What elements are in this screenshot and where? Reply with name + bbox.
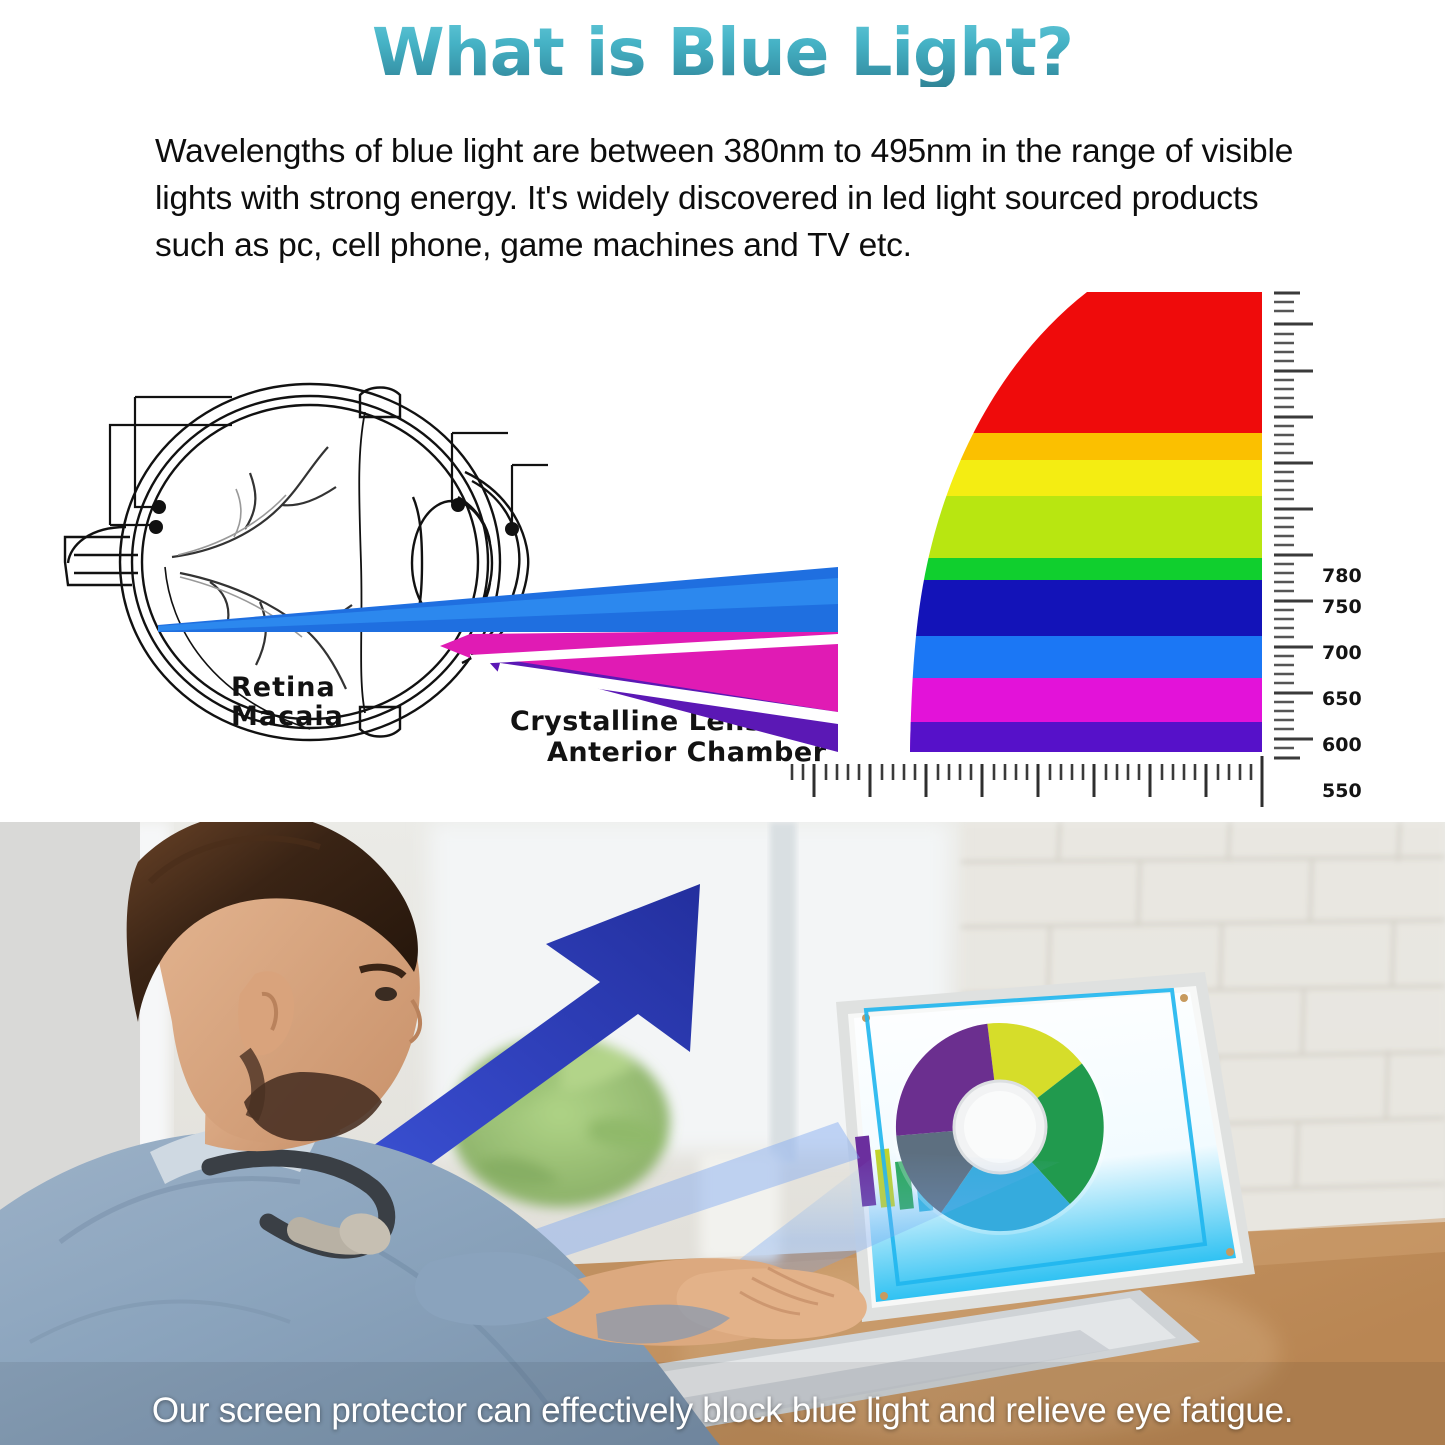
band-green: [880, 558, 1270, 580]
band-orange: [880, 433, 1270, 460]
horizontal-axis-minor-ticks: [792, 764, 1251, 780]
y-tick-700: 700: [1322, 642, 1362, 664]
vertical-axis-ticks: [1274, 293, 1313, 758]
y-tick-750: 750: [1322, 596, 1362, 618]
band-red: [880, 290, 1270, 433]
y-tick-600: 600: [1322, 734, 1362, 756]
y-tick-550: 550: [1322, 780, 1362, 802]
band-yellow-green: [880, 496, 1270, 558]
intro-paragraph: Wavelengths of blue light are between 38…: [155, 128, 1295, 269]
band-blue: [880, 580, 1270, 636]
band-light-blue: [880, 636, 1270, 678]
spectrum-chart: [0, 282, 1445, 822]
office-photo: [0, 822, 1445, 1445]
band-yellow: [880, 460, 1270, 496]
photo-caption: Our screen protector can effectively blo…: [0, 1391, 1445, 1431]
vertical-axis-minor-ticks: [1274, 302, 1294, 748]
band-violet: [880, 722, 1270, 758]
y-tick-650: 650: [1322, 688, 1362, 710]
horizontal-axis-ticks: [814, 756, 1262, 807]
photo-section: PIE CHART A B C D E DONE 25% Lorem ipsum…: [0, 822, 1445, 1445]
header-section: What is Blue Light? Wavelengths of blue …: [0, 0, 1445, 282]
y-tick-780: 780: [1322, 565, 1362, 587]
eye-spectrum-diagram: Retina Macaia Crystalline Lens Anterior …: [0, 282, 1445, 822]
page-title: What is Blue Light?: [0, 18, 1445, 87]
blue-light-infographic: What is Blue Light? Wavelengths of blue …: [0, 0, 1445, 1445]
